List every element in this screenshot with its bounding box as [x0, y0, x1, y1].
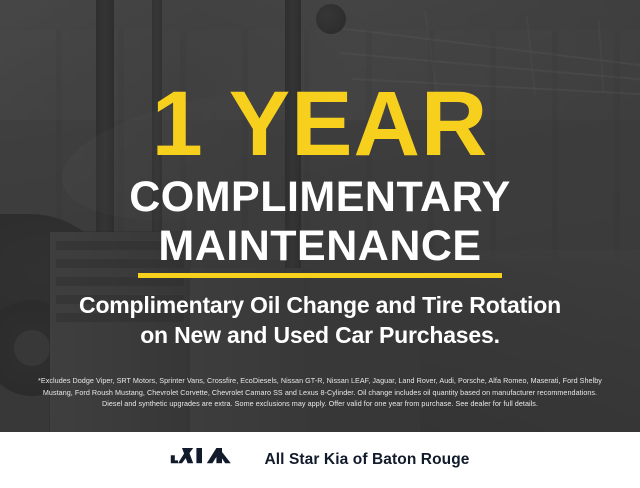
yellow-divider-rule	[138, 273, 502, 278]
dealer-name-label: All Star Kia of Baton Rouge	[264, 451, 469, 469]
disclaimer-line-1: *Excludes Dodge Viper, SRT Motors, Sprin…	[14, 375, 626, 387]
promo-content: 1 YEAR COMPLIMENTARY MAINTENANCE Complim…	[0, 0, 640, 488]
offer-tagline: Complimentary Oil Change and Tire Rotati…	[0, 290, 640, 350]
promo-banner: 1 YEAR COMPLIMENTARY MAINTENANCE Complim…	[0, 0, 640, 488]
brand-lockup: All Star Kia of Baton Rouge	[170, 447, 469, 474]
tagline-line-2: on New and Used Car Purchases.	[0, 320, 640, 350]
dealer-footer-bar: All Star Kia of Baton Rouge	[0, 432, 640, 488]
disclaimer-line-3: Diesel and synthetic upgrades are extra.…	[14, 398, 626, 410]
subheadline-line-1: COMPLIMENTARY	[129, 173, 511, 221]
subheadline: COMPLIMENTARY MAINTENANCE	[0, 176, 640, 268]
disclaimer-line-2: Mustang, Ford Roush Mustang, Chevrolet C…	[14, 387, 626, 399]
tagline-line-1: Complimentary Oil Change and Tire Rotati…	[0, 290, 640, 320]
disclaimer-text: *Excludes Dodge Viper, SRT Motors, Sprin…	[14, 375, 626, 410]
subheadline-line-2: MAINTENANCE	[0, 225, 640, 268]
headline-1-year: 1 YEAR	[0, 78, 640, 170]
kia-logo-icon	[170, 447, 242, 474]
